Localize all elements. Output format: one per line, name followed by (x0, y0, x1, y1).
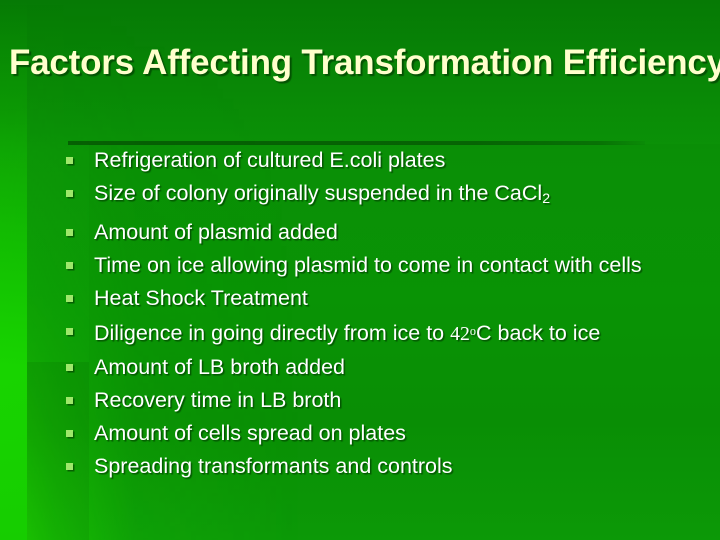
list-item-label: Diligence in going directly from ice to … (94, 318, 666, 348)
list-item-text: Size of colony originally suspended in t… (94, 181, 542, 205)
slide-title: Factors Affecting Transformation Efficie… (9, 40, 699, 84)
square-bullet-icon (66, 364, 73, 371)
square-bullet-icon (66, 157, 73, 164)
title-divider (68, 141, 645, 145)
list-item: Size of colony originally suspended in t… (66, 180, 686, 213)
list-item: Time on ice allowing plasmid to come in … (66, 252, 686, 279)
square-bullet-icon (66, 328, 73, 335)
list-item-label: Time on ice allowing plasmid to come in … (94, 252, 666, 279)
list-item-text-after: C back to ice (476, 321, 600, 345)
temperature-value: 42o (450, 323, 476, 345)
list-item: Heat Shock Treatment (66, 285, 686, 312)
square-bullet-icon (66, 262, 73, 269)
list-item: Amount of LB broth added (66, 354, 686, 381)
square-bullet-icon (66, 397, 73, 404)
bullet-list: Refrigeration of cultured E.coli plates … (66, 147, 686, 486)
square-bullet-icon (66, 430, 73, 437)
slide-canvas: Factors Affecting Transformation Efficie… (0, 0, 720, 540)
temperature-number: 42 (450, 323, 470, 345)
list-item-label: Spreading transformants and controls (94, 453, 666, 480)
list-item: Recovery time in LB broth (66, 387, 686, 414)
list-item: Refrigeration of cultured E.coli plates (66, 147, 686, 174)
list-item-label: Amount of LB broth added (94, 354, 666, 381)
square-bullet-icon (66, 229, 73, 236)
list-item: Amount of cells spread on plates (66, 420, 686, 447)
square-bullet-icon (66, 463, 73, 470)
list-item-label: Amount of cells spread on plates (94, 420, 666, 447)
list-item-label: Refrigeration of cultured E.coli plates (94, 147, 666, 174)
subscript: 2 (542, 191, 550, 207)
list-item-label: Heat Shock Treatment (94, 285, 666, 312)
list-item: Diligence in going directly from ice to … (66, 318, 686, 348)
list-item-label: Size of colony originally suspended in t… (94, 180, 666, 213)
list-item-label: Recovery time in LB broth (94, 387, 666, 414)
list-item: Spreading transformants and controls (66, 453, 686, 480)
square-bullet-icon (66, 295, 73, 302)
list-item-label: Amount of plasmid added (94, 219, 666, 246)
list-item-text-before: Diligence in going directly from ice to (94, 321, 450, 345)
square-bullet-icon (66, 190, 73, 197)
list-item: Amount of plasmid added (66, 219, 686, 246)
